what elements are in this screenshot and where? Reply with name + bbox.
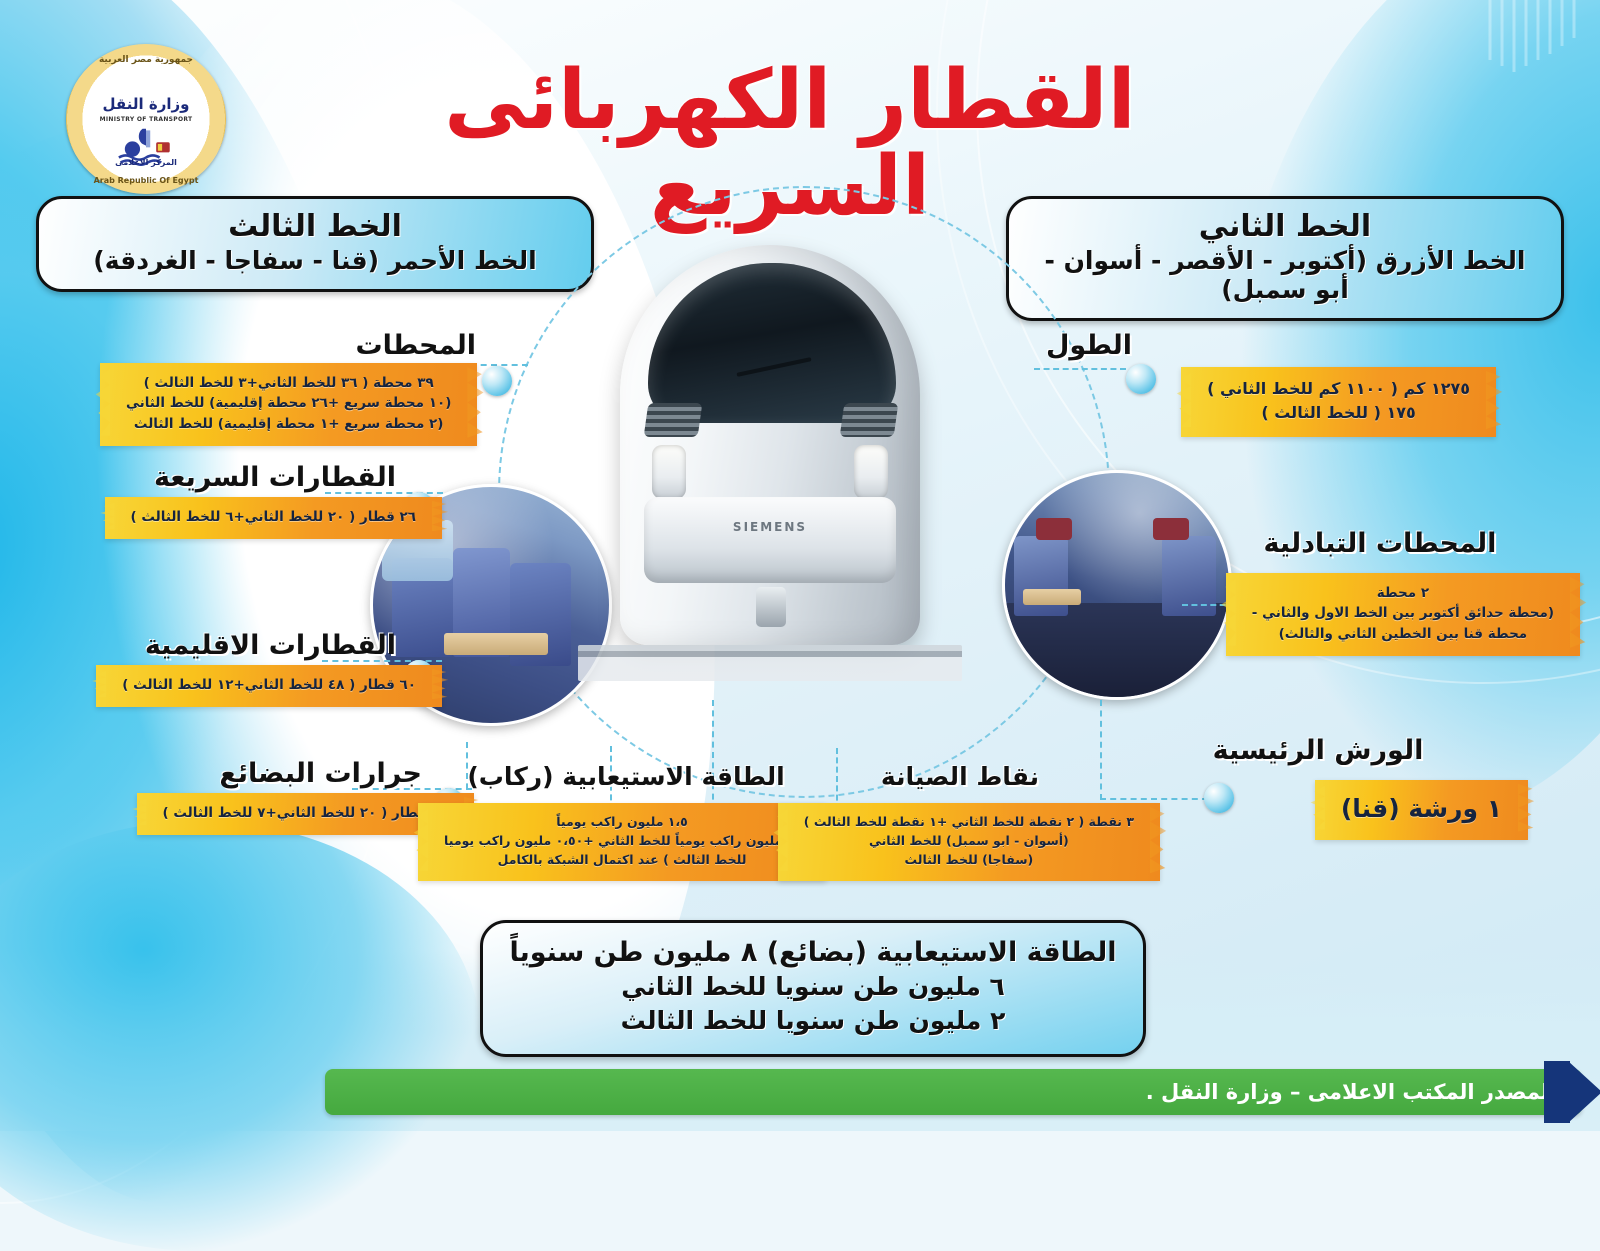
info-interchange-stations-row: محطة قنا بين الخطين الثاني والثالث) xyxy=(1252,624,1554,644)
info-stations-row: (١٠ محطة سريع +٢٦ محطة إقليمية) للخط الث… xyxy=(126,393,451,413)
headrest xyxy=(1036,518,1072,540)
info-fast-trains: القطارات السريعة ٢٦ قطار ( ٢٠ للخط الثان… xyxy=(66,462,442,539)
info-interchange-stations-row: (محطة حدائق أكتوبر بين الخط الاول والثان… xyxy=(1252,603,1554,623)
info-stations-row: (٢ محطة سريع +١ محطة إقليمية) للخط الثال… xyxy=(126,414,451,434)
folding-tray xyxy=(1023,589,1081,605)
info-stations-dot xyxy=(482,366,512,396)
train-headlight-right xyxy=(854,445,888,499)
info-main-workshops: الورش الرئيسية ١ ورشة (قنا) xyxy=(1108,735,1528,840)
info-length-label: الطول xyxy=(1026,330,1496,361)
info-regional-trains-value: ٦٠ قطار ( ٤٨ للخط الثاني+١٢ للخط الثالث … xyxy=(96,665,442,707)
footer-arrow-shaft xyxy=(1544,1061,1570,1123)
logo-ministry-arabic: وزارة النقل xyxy=(66,95,226,113)
train-brand-label: SIEMENS xyxy=(560,520,980,534)
info-regional-trains-label: القطارات الاقليمية xyxy=(62,630,442,661)
info-length-row: ١٧٥ ( للخط الثالث ) xyxy=(1207,401,1470,425)
line-three-subtitle: الخط الأحمر (قنا - سفاجا - الغردقة) xyxy=(57,246,573,275)
freight-capacity-line2: ٦ مليون طن سنويا للخط الثاني xyxy=(503,970,1123,1004)
line-three-title: الخط الثالث xyxy=(57,209,573,244)
info-fast-trains-value: ٢٦ قطار ( ٢٠ للخط الثاني+٦ للخط الثالث ) xyxy=(105,497,442,539)
footer-bar: المصدر المكتب الاعلامى – وزارة النقل . xyxy=(325,1069,1582,1115)
footer-arrow-icon xyxy=(1568,1061,1600,1123)
info-interchange-stations: المحطات التبادلية ٢ محطة (محطة حدائق أكت… xyxy=(1180,528,1580,656)
footer-source-text: المصدر المكتب الاعلامى – وزارة النقل . xyxy=(1146,1080,1556,1104)
info-regional-trains-row: ٦٠ قطار ( ٤٨ للخط الثاني+١٢ للخط الثالث … xyxy=(122,675,416,695)
freight-capacity-line3: ٢ مليون طن سنويا للخط الثالث xyxy=(503,1004,1123,1038)
info-maintenance-points-row: (سفاجا) للخط الثالث xyxy=(804,851,1134,870)
info-fast-trains-row: ٢٦ قطار ( ٢٠ للخط الثاني+٦ للخط الثالث ) xyxy=(131,507,416,527)
logo-country-text: جمهورية مصر العربية xyxy=(66,55,226,65)
logo-country-english: Arab Republic Of Egypt xyxy=(66,176,226,185)
line-two-header: الخط الثاني الخط الأزرق (أكتوبر - الأقصر… xyxy=(1006,196,1564,321)
train-headlight-left xyxy=(652,445,686,499)
high-speed-train-illustration: SIEMENS xyxy=(560,215,980,685)
freight-capacity-box: الطاقة الاستيعابية (بضائع) ٨ مليون طن سن… xyxy=(480,920,1146,1057)
info-length-dot xyxy=(1126,364,1156,394)
line-two-subtitle: الخط الأزرق (أكتوبر - الأقصر - أسوان - أ… xyxy=(1027,246,1543,304)
info-main-workshops-dot xyxy=(1204,783,1234,813)
ministry-logo: جمهورية مصر العربية وزارة النقل MINISTRY… xyxy=(66,44,226,194)
info-stations: المحطات ٣٩ محطة ( ٣٦ للخط الثاني+٣ للخط … xyxy=(100,330,520,446)
info-maintenance-points-value: ٣ نقطة ( ٢ نقطة للخط الثاني +١ نقطة للخط… xyxy=(778,803,1160,881)
info-maintenance-points-row: ٣ نقطة ( ٢ نقطة للخط الثاني +١ نقطة للخط… xyxy=(804,813,1134,832)
line-three-header: الخط الثالث الخط الأحمر (قنا - سفاجا - ا… xyxy=(36,196,594,292)
train-vent-left xyxy=(644,403,703,437)
info-length: الطول ١٢٧٥ كم ( ١١٠٠ كم للخط الثاني ) ١٧… xyxy=(1026,330,1496,437)
freight-capacity-line1: الطاقة الاستيعابية (بضائع) ٨ مليون طن سن… xyxy=(503,935,1123,970)
line-two-title: الخط الثاني xyxy=(1027,209,1543,244)
train-vent-right xyxy=(840,403,899,437)
info-fast-trains-label: القطارات السريعة xyxy=(66,462,442,493)
info-stations-value: ٣٩ محطة ( ٣٦ للخط الثاني+٣ للخط الثالث )… xyxy=(100,363,477,446)
info-main-workshops-value: ١ ورشة (قنا) xyxy=(1315,780,1528,840)
info-maintenance-points-row: (أسوان - ابو سمبل) للخط الثاني xyxy=(804,832,1134,851)
info-interchange-stations-row: ٢ محطة xyxy=(1252,583,1554,603)
logo-ministry-english: MINISTRY OF TRANSPORT xyxy=(66,116,226,123)
info-maintenance-points: نقاط الصيانة ٣ نقطة ( ٢ نقطة للخط الثاني… xyxy=(760,762,1160,881)
info-main-workshops-row: ١ ورشة (قنا) xyxy=(1341,790,1502,828)
logo-media-center-text: المركز الاعلامى xyxy=(66,158,226,167)
folding-tray xyxy=(444,633,548,654)
info-length-row: ١٢٧٥ كم ( ١١٠٠ كم للخط الثاني ) xyxy=(1207,377,1470,401)
info-interchange-stations-value: ٢ محطة (محطة حدائق أكتوبر بين الخط الاول… xyxy=(1226,573,1580,656)
info-interchange-stations-label: المحطات التبادلية xyxy=(1180,528,1580,559)
info-freight-locomotives-label: جرارات البضائع xyxy=(94,758,474,789)
info-length-value: ١٢٧٥ كم ( ١١٠٠ كم للخط الثاني ) ١٧٥ ( لل… xyxy=(1181,367,1496,437)
hatch-pattern-icon xyxy=(1480,0,1600,120)
train-rail-track xyxy=(578,645,962,681)
info-freight-locomotives: جرارات البضائع ٢٧ قطار ( ٢٠ للخط الثاني+… xyxy=(94,758,474,835)
info-stations-row: ٣٩ محطة ( ٣٦ للخط الثاني+٣ للخط الثالث ) xyxy=(126,373,451,393)
train-nose-skirt xyxy=(644,497,896,583)
train-coupler xyxy=(756,587,786,627)
info-main-workshops-label: الورش الرئيسية xyxy=(1108,735,1528,766)
info-stations-label: المحطات xyxy=(100,330,520,361)
info-freight-locomotives-row: ٢٧ قطار ( ٢٠ للخط الثاني+٧ للخط الثالث ) xyxy=(163,803,448,823)
info-regional-trains: القطارات الاقليمية ٦٠ قطار ( ٤٨ للخط الث… xyxy=(62,630,442,707)
info-maintenance-points-label: نقاط الصيانة xyxy=(760,762,1160,791)
